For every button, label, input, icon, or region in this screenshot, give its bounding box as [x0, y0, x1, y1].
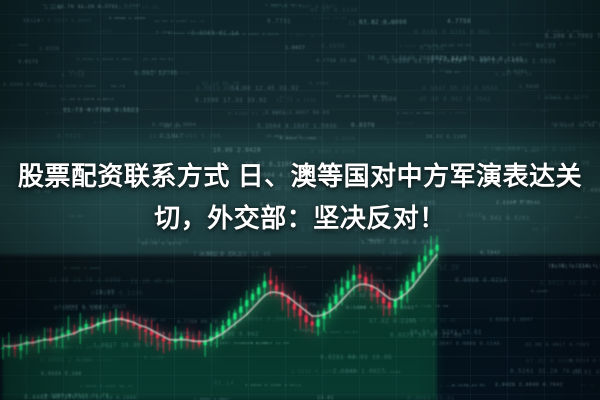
- data-text-fragment: 8.902 45.08: [495, 72, 532, 79]
- data-text-fragment: 31.26 1.5936 19.05: [336, 94, 386, 101]
- data-text-fragment: 95.70: [580, 383, 594, 390]
- data-text-fragment: 0.1146 13.61: [452, 383, 486, 390]
- data-text-fragment: 0.8376: [351, 122, 375, 129]
- data-text-fragment: 8.902: [94, 120, 108, 127]
- data-text-fragment: 1.5936 1.3847: [489, 317, 533, 324]
- data-text-fragment: 0.5523: [57, 133, 81, 140]
- data-text-fragment: 11.73 0.1146: [348, 20, 396, 27]
- data-text-fragment: 2.9428: [95, 29, 112, 36]
- data-text-fragment: 2.9428 5.3504 0.1146: [443, 56, 523, 63]
- data-text-fragment: 13.61: [68, 69, 85, 76]
- data-text-fragment: 0.4817 4.1847: [547, 29, 583, 36]
- data-text-fragment: 45.08: [42, 3, 56, 10]
- data-text-fragment: 0.1590: [531, 289, 548, 296]
- data-text-fragment: 7.4901: [12, 43, 29, 50]
- data-text-fragment: 22.08 0.4817 6.7093: [525, 342, 590, 349]
- data-text-fragment: 0.7731: [46, 111, 63, 118]
- data-text-fragment: 19.05 0.0214: [92, 107, 133, 114]
- grid-line-horizontal: [0, 52, 600, 53]
- data-text-fragment: 3.2210: [335, 136, 355, 143]
- grid-line-horizontal: [0, 14, 600, 15]
- data-text-fragment: 54.60 12.45 33.92: [231, 85, 299, 92]
- data-text-fragment: 1.3847 0.0098 0.1146: [432, 341, 500, 348]
- data-text-fragment: 11.73 6.7093 5.206: [149, 133, 221, 140]
- data-text-fragment: 40.37: [164, 124, 181, 131]
- data-text-fragment: 11.73: [111, 84, 125, 91]
- data-text-fragment: 0.7731: [267, 18, 291, 25]
- data-text-fragment: 0.4482: [533, 109, 550, 116]
- headline-line-1: 股票配资联系方式 日、澳等国对中方军演表达关: [0, 155, 600, 197]
- data-text-fragment: 0.1146 45.08: [484, 146, 525, 153]
- data-text-fragment: 19.05 0.5261 11.73: [154, 19, 204, 26]
- data-text-fragment: 76.49 0.4817: [142, 69, 176, 76]
- data-text-fragment: 4.7758: [447, 18, 471, 25]
- data-text-fragment: 67.82 0.0098: [526, 358, 574, 365]
- data-text-fragment: 67.82 19.05 58.93: [424, 43, 472, 50]
- data-text-fragment: 7.4901 1.0027 58.93: [265, 110, 330, 117]
- data-text-fragment: 4.1847 95.70 0.9604: [422, 85, 498, 92]
- data-text-fragment: 88.21: [279, 95, 293, 102]
- data-text-fragment: 22.08 58.93: [143, 57, 174, 64]
- data-text-fragment: 0.7731: [397, 121, 414, 128]
- data-text-fragment: 40.37 0.1146: [310, 7, 358, 14]
- data-text-fragment: 0.0098 5.3504: [109, 16, 145, 23]
- headline-line-2: 切，外交部：坚决反对！: [0, 197, 600, 239]
- data-text-fragment: 0.6195: [124, 3, 141, 10]
- data-text-fragment: 7.4901 4.7758: [73, 5, 109, 12]
- data-text-fragment: 1.0027 28.70: [290, 33, 324, 40]
- data-text-fragment: 45.08 9.541 2.6640: [416, 111, 466, 118]
- data-text-fragment: 0.6658: [321, 43, 345, 50]
- thumbnail-canvas: 2.6640 0.06723.9172 17.330.837676.49 1.3…: [0, 0, 600, 400]
- data-text-fragment: 17.33 0.8376 3.9172: [61, 97, 114, 104]
- data-text-fragment: 58.93 6.1105: [426, 134, 467, 141]
- stock-candlestick-chart: [0, 232, 440, 400]
- data-text-fragment: 0.0098 0.0214: [455, 277, 507, 284]
- data-text-fragment: 4.7758 22.08: [316, 58, 357, 65]
- data-text-fragment: 0.1590 17.33 33.92: [195, 97, 267, 104]
- data-text-fragment: 0.5261 31.26 76.49: [510, 368, 582, 375]
- data-text-fragment: 1.0027: [285, 45, 305, 52]
- data-text-fragment: 3.9172: [18, 59, 38, 66]
- data-text-fragment: 7.4901 0.5261 0.0214: [223, 32, 279, 39]
- data-text-fragment: 19.05 3.2210 4.7758: [548, 263, 600, 270]
- data-text-fragment: 31.26: [439, 265, 459, 272]
- data-text-fragment: 12.45: [584, 120, 598, 127]
- data-text-fragment: 0.0214 0.5523 8.902: [569, 358, 600, 365]
- data-text-fragment: 45.08 8.902 0.7042: [419, 96, 491, 103]
- right-quote-panel: [420, 256, 600, 400]
- data-text-fragment: 0.5261 0.1146 0.9604: [40, 84, 96, 91]
- data-text-fragment: 88.21: [536, 43, 556, 50]
- headline: 股票配资联系方式 日、澳等国对中方军演表达关 切，外交部：坚决反对！: [0, 155, 600, 239]
- data-text-fragment: 1.5936 54.60: [313, 16, 347, 23]
- data-text-fragment: 9.8261 9.8261 8.902: [414, 29, 490, 36]
- data-text-fragment: 1.5936: [519, 84, 539, 91]
- data-text-fragment: 1.5936 7.4901 0.8376: [574, 293, 600, 300]
- data-text-fragment: 5.3504 4.1847 1.5936: [257, 123, 337, 130]
- data-text-fragment: 0.4482: [309, 81, 329, 88]
- data-text-fragment: 61.14: [23, 18, 40, 25]
- data-text-fragment: 2.9428 2.6640 0.7042: [495, 382, 563, 389]
- data-text-fragment: 0.0672 3.2210: [482, 253, 518, 260]
- data-text-fragment: 1.8229: [39, 46, 59, 53]
- data-text-fragment: 19.05 2.9428: [213, 147, 261, 154]
- data-text-fragment: 0.4817 0.0672: [279, 136, 323, 143]
- data-text-fragment: 76.49 2.6640 2.6640: [367, 55, 443, 62]
- data-text-fragment: 0.3903 28.70: [545, 96, 579, 103]
- data-text-fragment: 0.6195 1.8229 1.0027: [77, 57, 133, 64]
- data-text-fragment: 0.7731: [432, 69, 452, 76]
- data-text-fragment: 0.8813 54.60 5.3504: [540, 280, 600, 287]
